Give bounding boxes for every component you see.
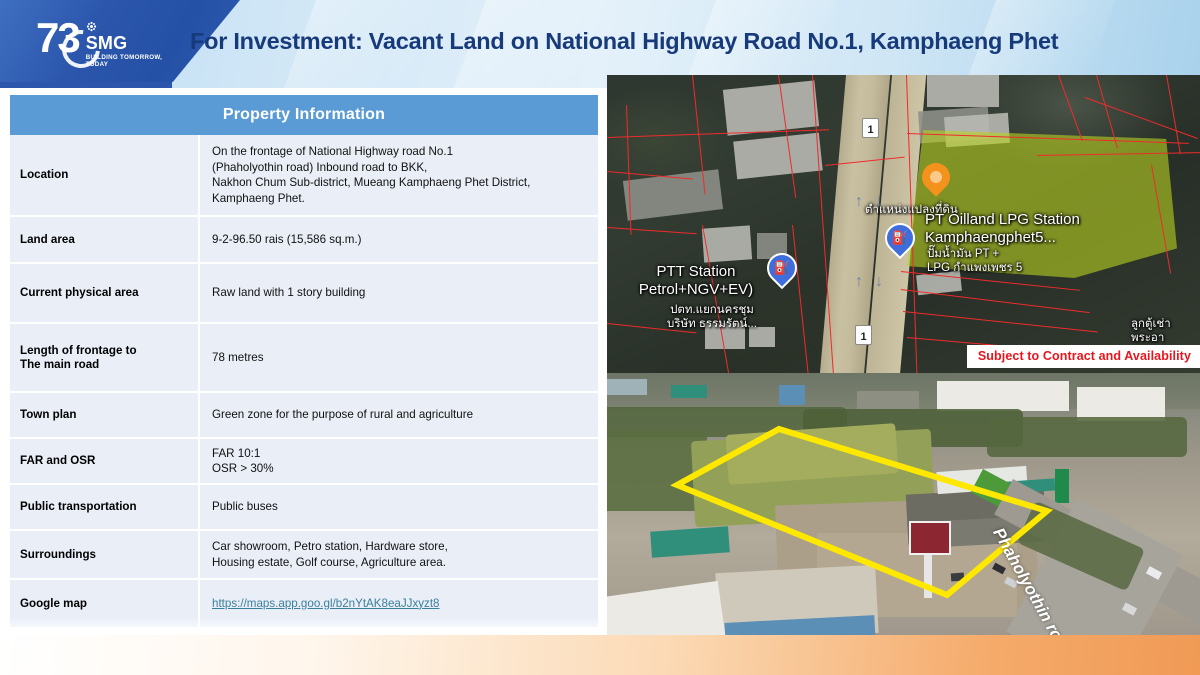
petrol-brand-sign xyxy=(1055,469,1069,503)
route-shield-icon: 1 xyxy=(855,325,872,345)
plot-boundary-line xyxy=(792,225,809,373)
table-row: Town plan Green zone for the purpose of … xyxy=(10,393,598,439)
aerial-photo[interactable]: Phaholyothin road xyxy=(607,373,1200,655)
row-value: On the frontage of National Highway road… xyxy=(200,135,598,215)
traffic-direction-arrow-icon: ↓ xyxy=(875,273,883,291)
map-label-ptt-thai: ปตท.แยกนครชุม บริษัท ธรรมรัตน์... xyxy=(637,303,787,331)
footer-accent-strip xyxy=(0,635,1200,675)
building-roof xyxy=(607,379,647,395)
table-row: Location On the frontage of National Hig… xyxy=(10,135,598,217)
map-label-lpg-station: PT Oilland LPG Station Kamphaengphet5... xyxy=(925,211,1080,247)
row-value: 9-2-96.50 rais (15,586 sq.m.) xyxy=(200,217,598,262)
table-row: Land area 9-2-96.50 rais (15,586 sq.m.) xyxy=(10,217,598,264)
building-roof xyxy=(779,385,805,405)
map-label-corner-thai: ลูกตู้เช่า พระอา xyxy=(1131,317,1171,345)
row-value: 78 metres xyxy=(200,324,598,391)
building-roof xyxy=(937,381,1069,411)
row-value: Raw land with 1 story building xyxy=(200,264,598,322)
shed-roof xyxy=(650,526,730,557)
table-row: Length of frontage to The main road 78 m… xyxy=(10,324,598,393)
row-key: Land area xyxy=(10,217,200,262)
pylon-sign-board xyxy=(909,521,951,555)
building-footprint xyxy=(733,133,823,180)
route-shield-icon: 1 xyxy=(862,118,879,138)
building-footprint xyxy=(702,225,752,262)
google-map-link[interactable]: https://maps.app.goo.gl/b2nYtAK8eaJJxyzt… xyxy=(212,596,440,612)
property-imagery: 1 1 ↑ ↓ ↑ ↓ ⛽ ⛽ PTT Station Petrol+NGV+E… xyxy=(607,75,1200,655)
table-row: Surroundings Car showroom, Petro station… xyxy=(10,531,598,580)
row-value: Car showroom, Petro station, Hardware st… xyxy=(200,531,598,578)
logo-tagline: BUILDING TOMORROW, TODAY xyxy=(86,54,176,69)
plot-boundary-line xyxy=(1058,75,1083,141)
smg-logo: 73 SMG BUILDING TOMORROW, TODAY xyxy=(36,16,176,74)
row-key: Current physical area xyxy=(10,264,200,322)
building-roof xyxy=(671,385,707,398)
map-label-ptt-station: PTT Station Petrol+NGV+EV) xyxy=(611,263,781,299)
table-row: FAR and OSR FAR 10:1 OSR > 30% xyxy=(10,439,598,485)
row-key: Length of frontage to The main road xyxy=(10,324,200,391)
row-key: Location xyxy=(10,135,200,215)
satellite-map[interactable]: 1 1 ↑ ↓ ↑ ↓ ⛽ ⛽ PTT Station Petrol+NGV+E… xyxy=(607,75,1200,373)
row-key: Public transportation xyxy=(10,485,200,529)
building-footprint xyxy=(723,80,819,135)
table-row: Current physical area Raw land with 1 st… xyxy=(10,264,598,324)
plot-boundary-line xyxy=(1085,97,1198,139)
building-roof xyxy=(1077,387,1165,421)
plot-boundary-line xyxy=(901,289,1090,313)
table-header: Property Information xyxy=(10,95,598,135)
vegetation-area xyxy=(987,417,1187,457)
row-value: Public buses xyxy=(200,485,598,529)
footer-fade xyxy=(0,617,600,635)
building-roof xyxy=(857,391,919,409)
parked-car xyxy=(951,573,965,582)
plot-boundary-line xyxy=(607,227,697,234)
row-value: Green zone for the purpose of rural and … xyxy=(200,393,598,437)
row-value: FAR 10:1 OSR > 30% xyxy=(200,439,598,483)
traffic-direction-arrow-icon: ↑ xyxy=(855,273,863,291)
row-key: FAR and OSR xyxy=(10,439,200,483)
building-footprint xyxy=(927,75,999,107)
map-label-lpg-thai: ปั๊มน้ำมัน PT + LPG กำแพงเพชร 5 xyxy=(927,247,1022,275)
table-row: Public transportation Public buses xyxy=(10,485,598,531)
row-key: Town plan xyxy=(10,393,200,437)
plot-boundary-line xyxy=(903,311,1098,332)
row-key: Surroundings xyxy=(10,531,200,578)
property-information-table: Property Information Location On the fro… xyxy=(10,95,598,629)
traffic-direction-arrow-icon: ↑ xyxy=(855,193,863,211)
disclaimer-banner: Subject to Contract and Availability xyxy=(967,345,1200,368)
page-title: For Investment: Vacant Land on National … xyxy=(190,28,1150,55)
